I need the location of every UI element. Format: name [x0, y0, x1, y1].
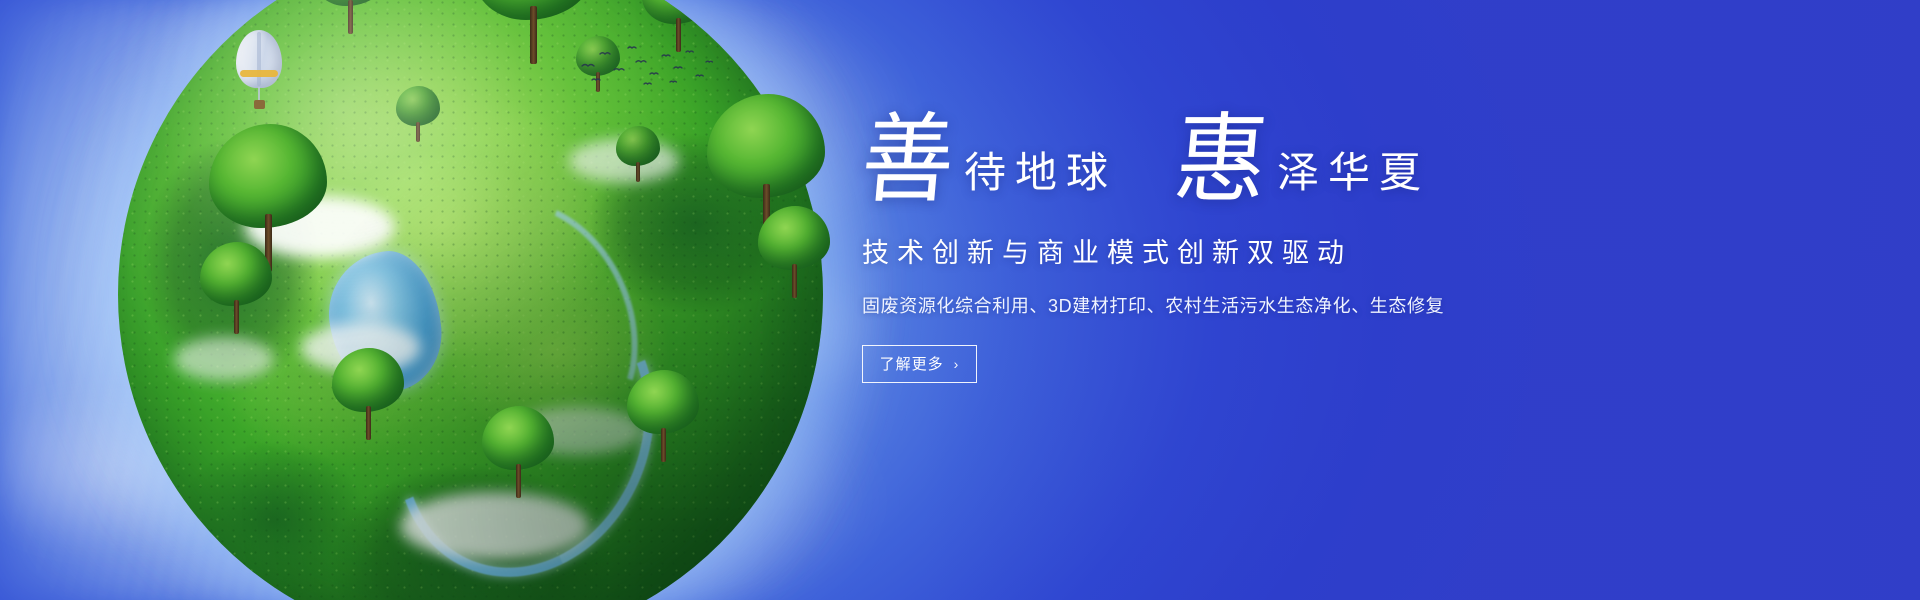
tiny-planet-image [118, 0, 823, 600]
page-title: 善 待地球 惠 泽华夏 [862, 118, 1762, 203]
planet-cloud [400, 492, 590, 560]
headline-rest-zehuaxia: 泽华夏 [1277, 152, 1430, 203]
hero-content: 善 待地球 惠 泽华夏 技术创新与商业模式创新双驱动 固废资源化综合利用、3D建… [862, 118, 1762, 383]
hero-description: 固废资源化综合利用、3D建材打印、农村生活污水生态净化、生态修复 [862, 292, 1762, 318]
headline-calligraphy-hui: 惠 [1171, 115, 1271, 205]
learn-more-button[interactable]: 了解更多 › [862, 345, 977, 383]
hero-banner: 善 待地球 惠 泽华夏 技术创新与商业模式创新双驱动 固废资源化综合利用、3D建… [0, 0, 1920, 600]
learn-more-label: 了解更多 [880, 353, 944, 374]
birds-icon [578, 40, 718, 88]
chevron-right-icon: › [954, 356, 960, 372]
headline-calligraphy-shan: 善 [858, 115, 958, 205]
hero-subtitle: 技术创新与商业模式创新双驱动 [862, 231, 1762, 270]
planet-cloud [174, 337, 274, 381]
hot-air-balloon-icon [236, 30, 282, 116]
planet-cloud [569, 139, 679, 183]
headline-rest-daidiqiu: 待地球 [964, 152, 1117, 203]
